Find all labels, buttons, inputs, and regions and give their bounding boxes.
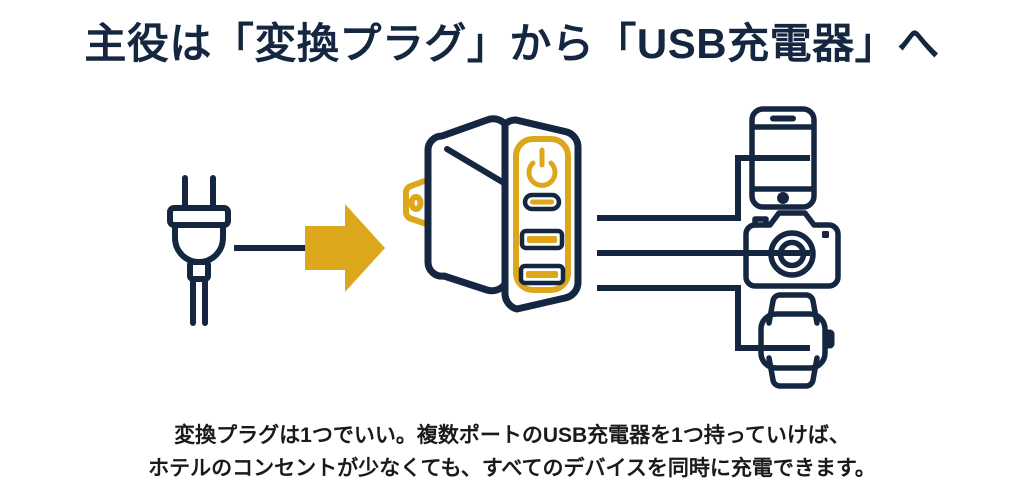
wall-plug-icon — [170, 178, 228, 323]
usb-port-2 — [522, 231, 562, 248]
page-title: 主役は「変換プラグ」から「USB充電器」へ — [0, 20, 1024, 68]
camera-icon — [746, 213, 838, 286]
slide-canvas: 主役は「変換プラグ」から「USB充電器」へ — [0, 0, 1024, 496]
illustration-area — [0, 86, 1024, 406]
usb-port-3 — [521, 266, 563, 283]
caption-line-1: 変換プラグは1つでいい。複数ポートのUSB充電器を1つ持っていけば、 — [0, 420, 1024, 453]
transition-arrow-icon — [305, 204, 385, 292]
caption-block: 変換プラグは1つでいい。複数ポートのUSB充電器を1つ持っていけば、 ホテルのコ… — [0, 420, 1024, 485]
usb-charger-icon — [406, 119, 578, 309]
caption-line-2: ホテルのコンセントが少なくても、すべてのデバイスを同時に充電できます。 — [0, 453, 1024, 486]
usb-port-1 — [525, 195, 559, 209]
smartwatch-icon — [761, 295, 833, 386]
